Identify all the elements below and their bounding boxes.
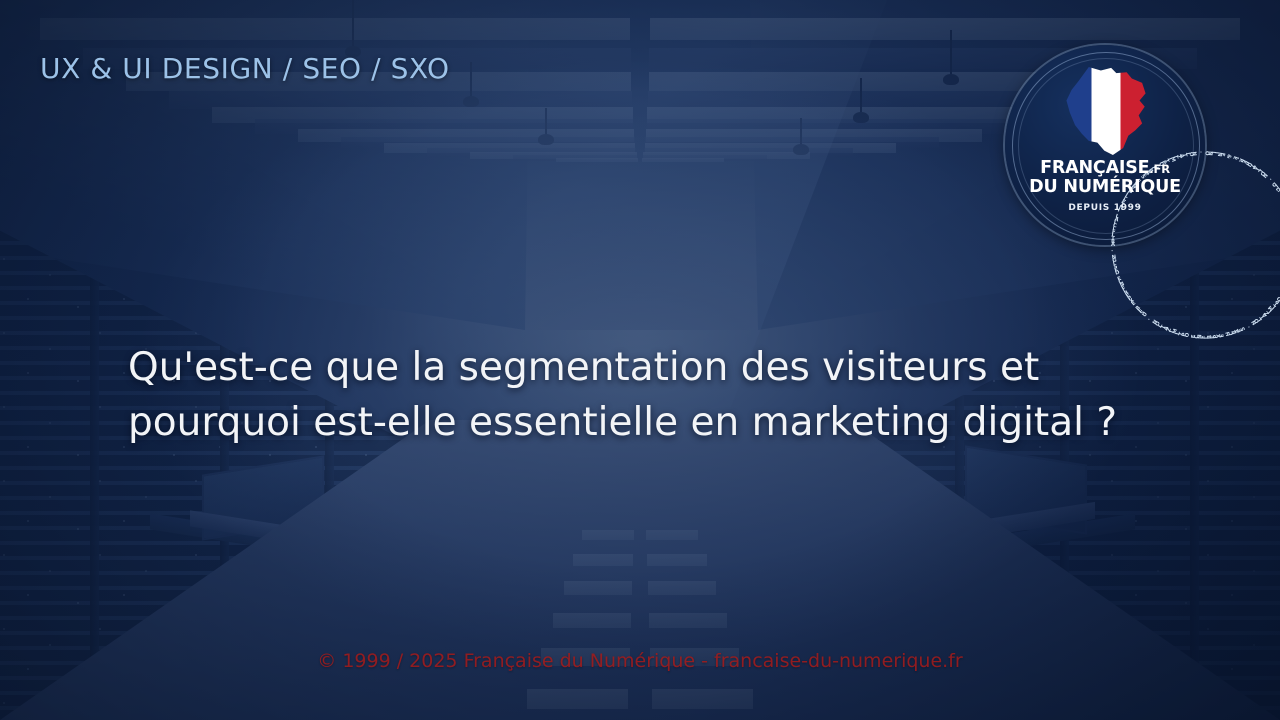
logo-brand-tld: .FR [1149, 162, 1169, 176]
headline-line-2: pourquoi est-elle essentielle en marketi… [128, 395, 1128, 450]
logo-since-text: DEPUIS 1999 [1005, 203, 1205, 213]
logo-brand-name: FRANÇAISE.FR DU NUMÉRIQUE [1005, 159, 1205, 197]
logo-ring-char: · [1197, 151, 1203, 154]
copyright-footer: © 1999 / 2025 Française du Numérique - f… [0, 650, 1280, 672]
kicker-text: UX & UI DESIGN / SEO / SXO [40, 52, 450, 85]
logo-brand-line2: DU NUMÉRIQUE [1005, 178, 1205, 198]
logo-ring-char: N [1111, 254, 1116, 261]
logo-ring-char: · [1111, 248, 1114, 254]
brand-logo[interactable]: ARTIFICIALINTELLIGENCESEARCHOPTIMIZATION… [1005, 45, 1205, 245]
headline-line-1: Qu'est-ce que la segmentation des visite… [128, 340, 1128, 395]
slide-canvas: UX & UI DESIGN / SEO / SXO Qu'est-ce que… [0, 0, 1280, 720]
logo-ring-char: E [1191, 334, 1197, 339]
logo-brand-line1: FRANÇAISE.FR [1005, 159, 1205, 178]
page-title: Qu'est-ce que la segmentation des visite… [128, 340, 1128, 451]
